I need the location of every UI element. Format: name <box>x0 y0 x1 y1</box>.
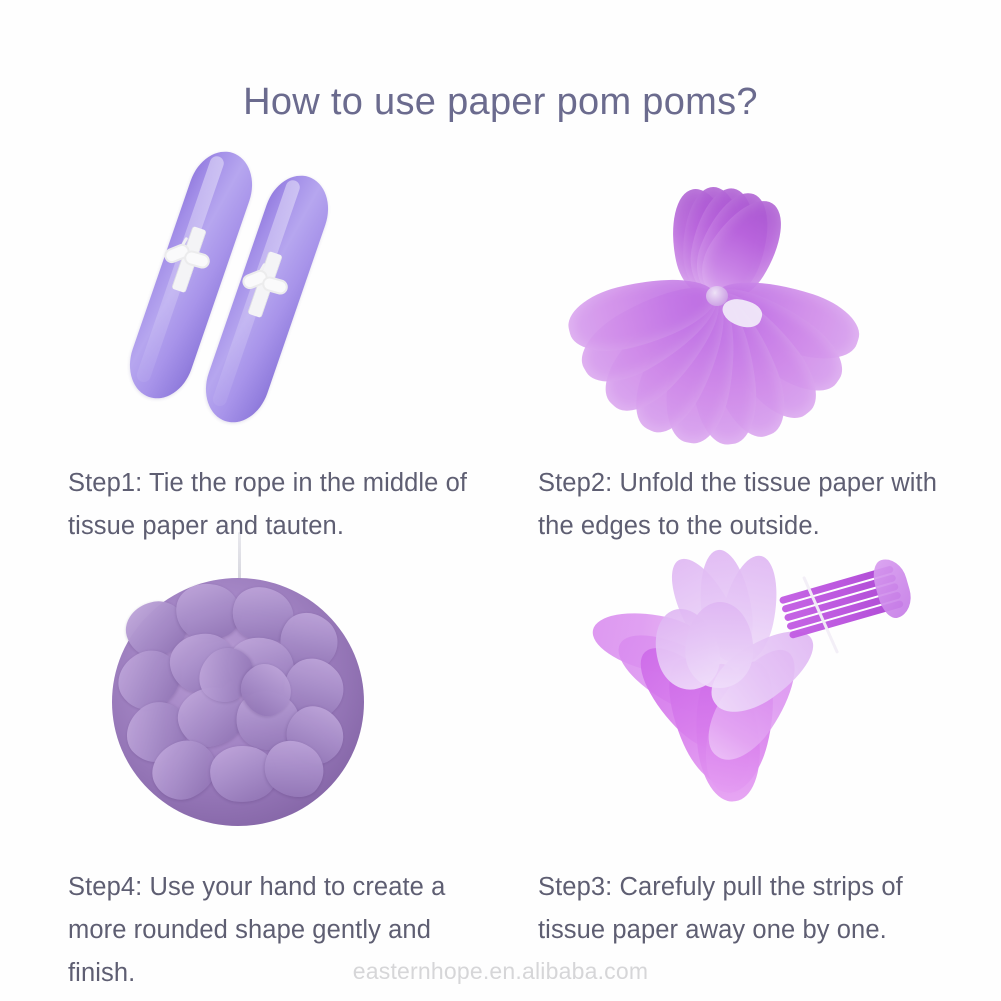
step4-image-finished-pom-pom <box>90 530 390 830</box>
step2-caption: Step2: Unfold the tissue paper with the … <box>538 462 958 548</box>
watermark-url: easternhope.en.alibaba.com <box>0 958 1001 985</box>
infographic-page: How to use paper pom poms? <box>0 0 1001 1001</box>
step3-image-separating-strips <box>545 540 915 840</box>
bow-knot-left <box>168 244 208 270</box>
step1-caption: Step1: Tie the rope in the middle of tis… <box>68 462 488 548</box>
unseparated-strip-bundle <box>778 560 911 647</box>
step3-caption: Step3: Carefuly pull the strips of tissu… <box>538 866 968 952</box>
page-title: How to use paper pom poms? <box>0 81 1001 124</box>
step1-image-rolled-tissue-paper <box>120 140 390 430</box>
step2-image-unfolded-fan <box>540 150 890 430</box>
bow-knot-right <box>246 270 286 296</box>
